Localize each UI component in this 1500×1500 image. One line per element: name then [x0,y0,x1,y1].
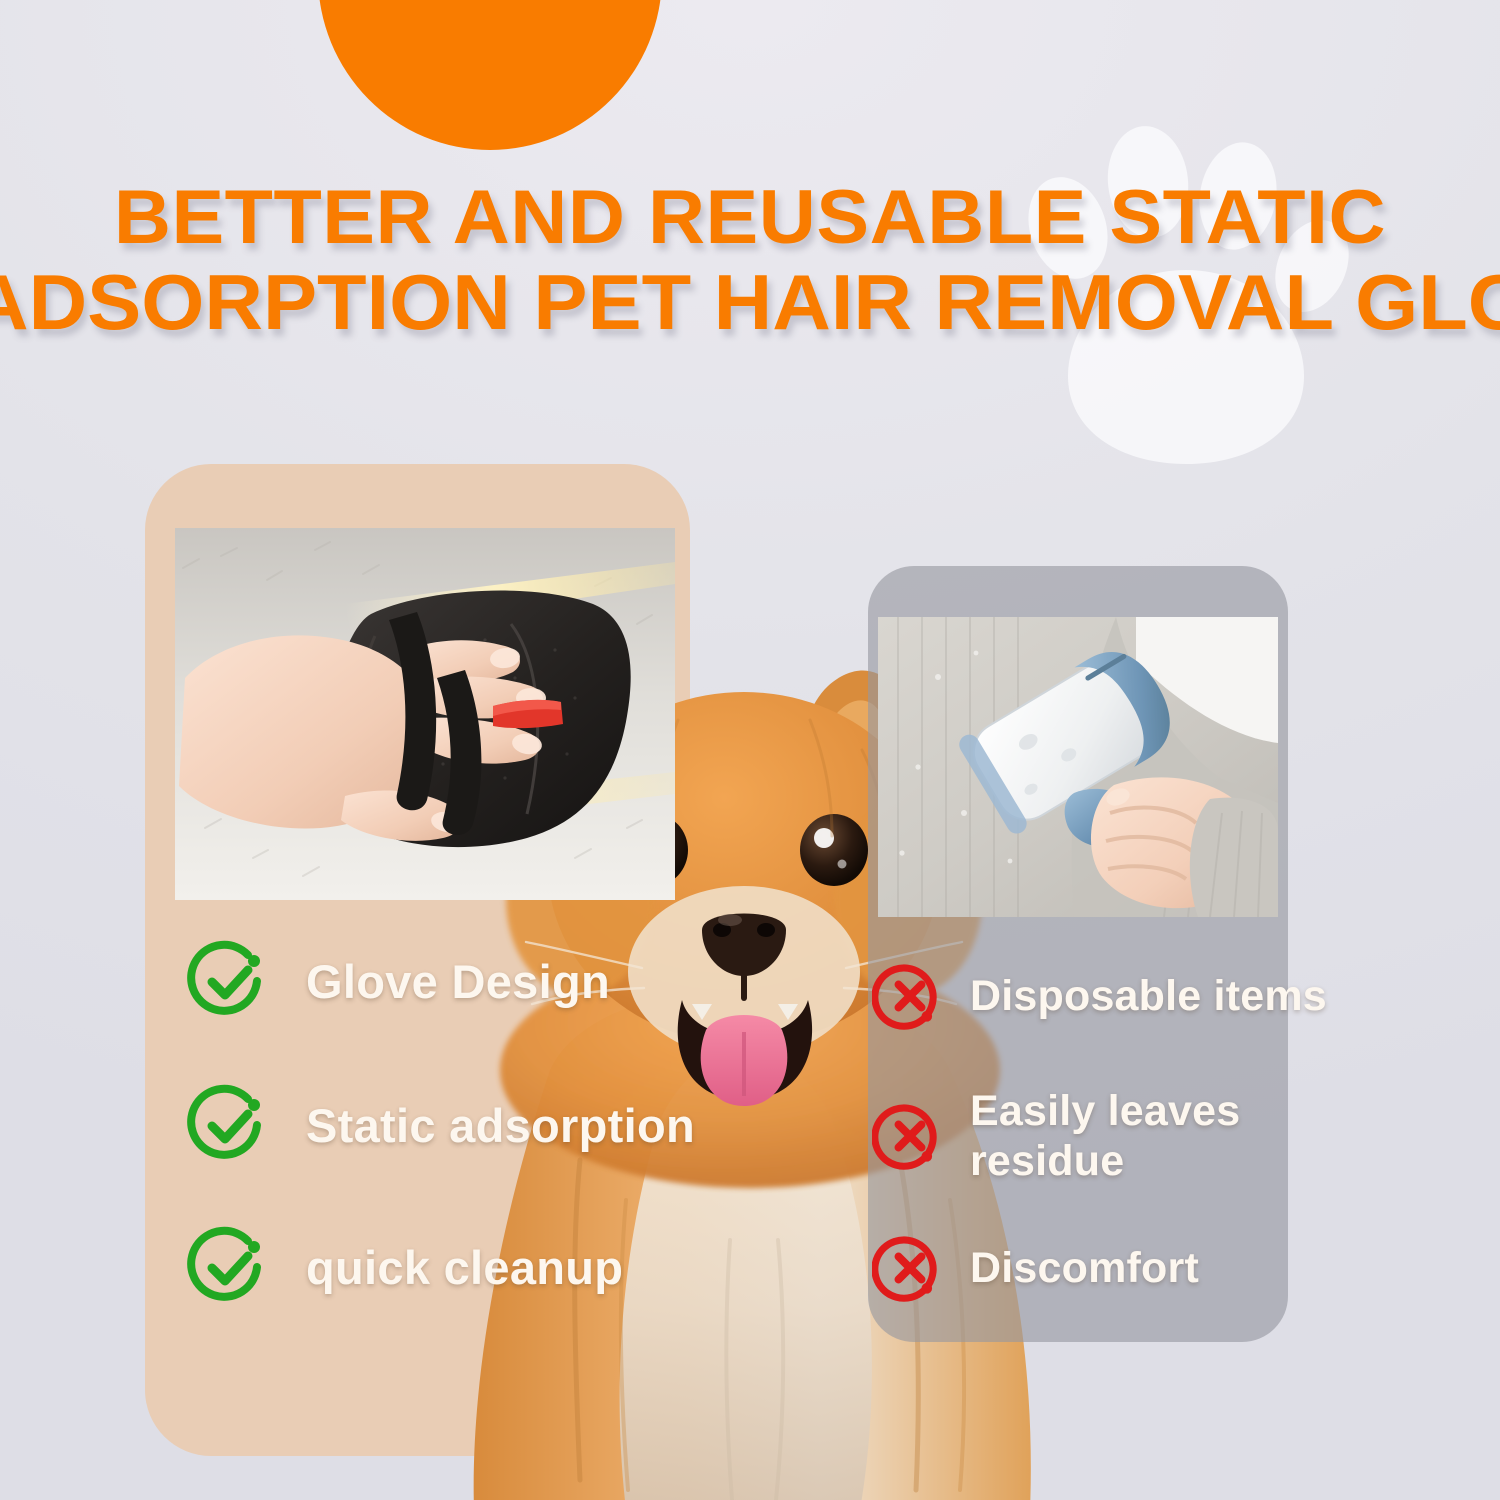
glove-on-hand-photo [175,528,675,900]
orange-circle-decoration [318,0,662,150]
cons-item-1: Disposable items [872,958,1327,1034]
infographic-canvas: BETTER AND REUSABLE STATIC ADSORPTION PE… [0,0,1500,1500]
headline-line-1: BETTER AND REUSABLE STATIC [0,176,1500,260]
cross-circle-icon [872,958,948,1034]
cross-circle-icon [872,1098,948,1174]
pros-item-label: quick cleanup [306,1240,623,1295]
cons-item-label: Discomfort [970,1243,1199,1293]
cons-item-label: Disposable items [970,971,1327,1021]
page-title: BETTER AND REUSABLE STATIC ADSORPTION PE… [0,176,1500,344]
cons-item-label: Easily leaves residue [970,1086,1240,1186]
cross-circle-icon [872,1230,948,1306]
pros-item-2: Static adsorption [186,1082,695,1168]
pros-item-label: Glove Design [306,954,610,1009]
check-circle-icon [186,1082,272,1168]
headline-line-2: ADSORPTION PET HAIR REMOVAL GLOVE [0,260,1500,344]
cons-item-3: Discomfort [872,1230,1199,1306]
lint-roller-photo [878,617,1278,917]
check-circle-icon [186,938,272,1024]
pros-item-label: Static adsorption [306,1098,695,1153]
pros-item-1: Glove Design [186,938,610,1024]
check-circle-icon [186,1224,272,1310]
pros-item-3: quick cleanup [186,1224,623,1310]
cons-item-2: Easily leaves residue [872,1086,1240,1186]
